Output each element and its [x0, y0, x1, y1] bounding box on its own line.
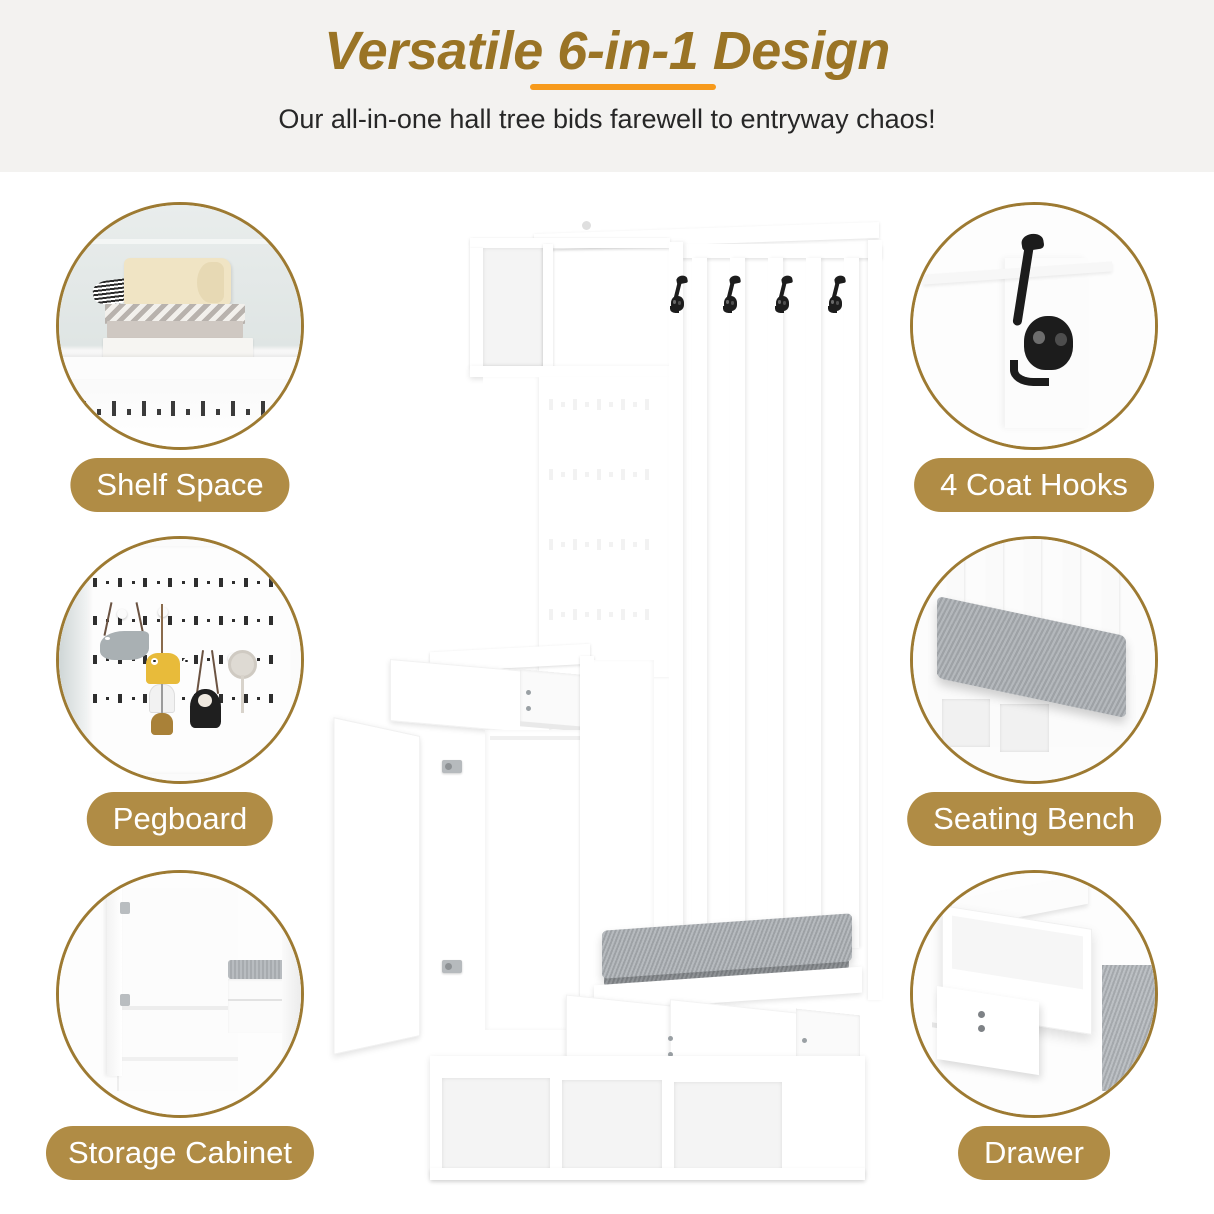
back-slat — [730, 258, 745, 948]
coat-hook-4 — [827, 278, 845, 312]
drawer-photo-scene — [913, 873, 1155, 1115]
cabinet-photo-scene — [59, 873, 301, 1115]
coat-hook-photo-scene — [913, 205, 1155, 447]
feature-callout-seating-bench: Seating Bench — [910, 536, 1158, 856]
feature-callout-storage-cabinet: Storage Cabinet — [56, 870, 304, 1190]
black-figure-ornament — [190, 689, 221, 728]
pegboard-photo-scene — [59, 539, 301, 781]
drawer-front-panel — [937, 986, 1039, 1075]
cabinet-top-edge — [490, 736, 582, 740]
bottom-cubby-1 — [442, 1078, 550, 1170]
panel-left-edge — [669, 242, 683, 942]
feature-image-storage-cabinet — [56, 870, 304, 1118]
back-slat — [806, 258, 821, 948]
feature-callout-coat-hooks: 4 Coat Hooks — [910, 202, 1158, 522]
feature-callout-pegboard: Pegboard — [56, 536, 304, 856]
upper-shelf-cubby — [483, 248, 543, 366]
feature-image-shelf-space — [56, 202, 304, 450]
book-gray — [107, 321, 243, 338]
hook-rail-top — [682, 244, 882, 258]
pegboard-slot-row — [93, 578, 287, 587]
shelf-board — [59, 357, 301, 379]
handbag-object — [124, 258, 230, 306]
panel-right-edge — [868, 240, 882, 1000]
page-subtitle: Our all-in-one hall tree bids farewell t… — [0, 104, 1214, 135]
cabinet-hinge-bottom — [442, 960, 462, 973]
wall-anchor-dot — [582, 221, 591, 230]
base-bottom-board — [430, 1168, 865, 1180]
title-underline-accent — [530, 84, 716, 90]
shelf-slot-row — [74, 394, 287, 433]
back-slat — [768, 258, 783, 948]
shelf-board — [470, 366, 678, 377]
coat-hook-3 — [774, 278, 792, 312]
feature-image-drawer — [910, 870, 1158, 1118]
coat-hook-1 — [669, 278, 687, 312]
page-title: Versatile 6-in-1 Design — [0, 20, 1214, 82]
feature-label-storage-cabinet: Storage Cabinet — [46, 1126, 314, 1180]
cabinet-interior — [485, 730, 585, 1030]
feature-image-seating-bench — [910, 536, 1158, 784]
bottom-cubby-2 — [562, 1080, 662, 1170]
back-slat — [844, 258, 859, 948]
pegboard-side-face — [483, 377, 539, 677]
pegboard-panel — [539, 377, 669, 677]
bench-photo-scene — [913, 539, 1155, 781]
feature-label-drawer: Drawer — [958, 1126, 1110, 1180]
shelf-divider-panel — [543, 244, 553, 370]
back-slat — [692, 258, 707, 948]
bottom-cubby-3 — [674, 1082, 782, 1172]
product-hall-tree-image — [330, 200, 890, 1200]
feature-label-seating-bench: Seating Bench — [907, 792, 1161, 846]
left-top-board — [470, 238, 670, 248]
feature-callout-shelf-space: Shelf Space — [56, 202, 304, 522]
bell-ornament — [151, 713, 173, 735]
feature-label-pegboard: Pegboard — [87, 792, 273, 846]
coat-hook-2 — [722, 278, 740, 312]
bird-ornament — [100, 631, 148, 660]
feature-label-coat-hooks: 4 Coat Hooks — [914, 458, 1154, 512]
upper-drawer-box — [520, 669, 582, 728]
cushion-fabric — [1102, 965, 1155, 1091]
feature-image-pegboard — [56, 536, 304, 784]
cabinet-hinge-top — [442, 760, 462, 773]
feature-label-shelf-space: Shelf Space — [70, 458, 289, 512]
shelf-left-side-panel — [470, 248, 483, 368]
owl-pouch — [146, 653, 180, 684]
feature-callout-drawer: Drawer — [910, 870, 1158, 1190]
feature-image-coat-hooks — [910, 202, 1158, 450]
cabinet-door-open — [333, 717, 420, 1055]
shelf-photo-scene — [59, 205, 301, 447]
